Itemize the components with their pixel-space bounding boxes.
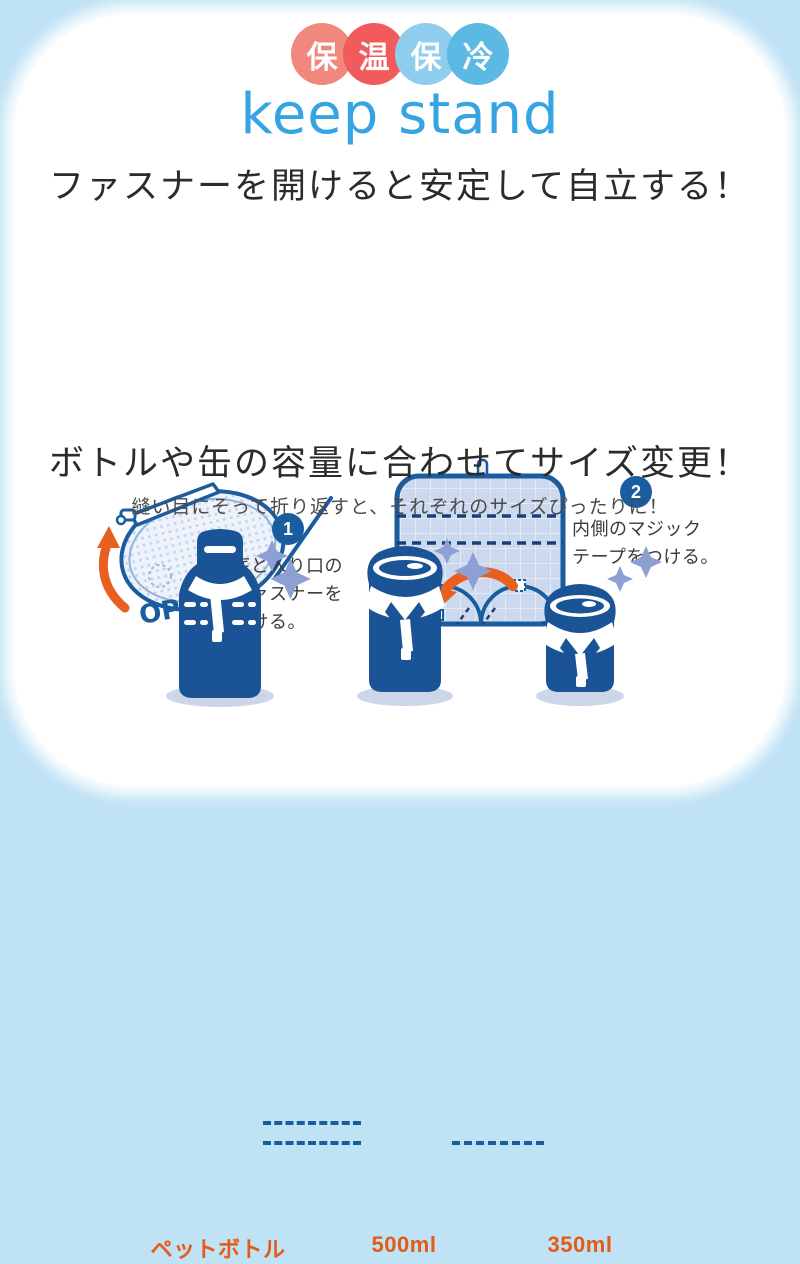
headline-stand-text: ファスナーを開けると安定して自立する！ xyxy=(49,167,751,206)
badge-ho-2-label: 保 xyxy=(411,32,442,77)
headline-size: ボトルや缶の容量に合わせてサイズ変更！ xyxy=(0,435,800,488)
size-subtext: 縫い目にそって折り返すと、それぞれのサイズぴったりに！ xyxy=(0,492,800,519)
connector-dashed-a1 xyxy=(263,1121,361,1125)
headline-stand: ファスナーを開けると安定して自立する！ xyxy=(0,158,800,211)
steps-section: OPEN 1 底と入り口の ファスナーを あける。 xyxy=(0,228,800,413)
badge-on-label: 温 xyxy=(359,32,390,77)
sparkle-icon xyxy=(256,540,311,599)
badge-rei: 冷 xyxy=(447,23,509,85)
badge-ho-1-label: 保 xyxy=(307,32,338,77)
bottle-label-pet: ペットボトル xyxy=(118,1232,318,1264)
connector-dashed-a2 xyxy=(263,1141,361,1145)
bottle-label-350ml: 350ml xyxy=(480,1232,680,1258)
connector-dashed-b1 xyxy=(452,1141,544,1145)
product-logo: keep stand xyxy=(0,82,800,147)
sparkle-icon xyxy=(607,546,662,592)
bottle-illustration-500ml xyxy=(305,524,505,709)
headline-size-highlight: ボトルや缶の容量に合わせてサイズ変更！ xyxy=(45,435,755,488)
infographic-root: 保 温 保 冷 keep stand ファスナーを開けると安定して自立する！ xyxy=(0,0,800,800)
bottle-illustration-350ml xyxy=(480,524,680,709)
badge-rei-label: 冷 xyxy=(463,32,494,77)
bottle-size-row: ペットボトル 500ml 350ml xyxy=(0,524,800,774)
bottle-illustration-pet xyxy=(120,524,320,709)
feature-badge-row: 保 温 保 冷 xyxy=(0,22,800,86)
headline-stand-highlight: ファスナーを開けると安定して自立する！ xyxy=(45,158,755,211)
headline-size-text: ボトルや缶の容量に合わせてサイズ変更！ xyxy=(49,444,751,483)
bottle-label-500ml: 500ml xyxy=(304,1232,504,1258)
